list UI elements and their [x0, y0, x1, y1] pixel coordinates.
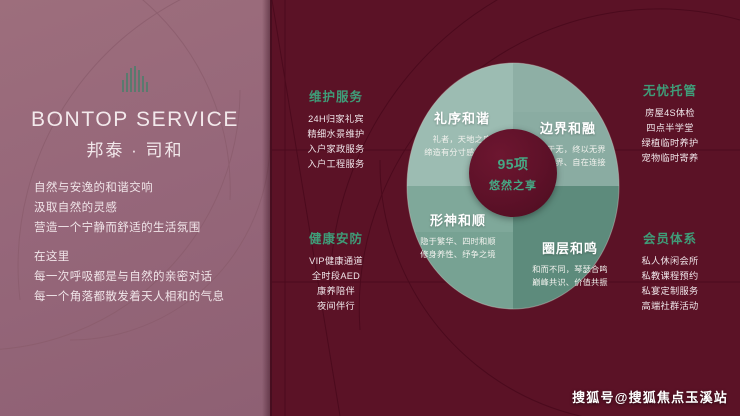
service-pinwheel-diagram: 礼序和谐 礼者，天地之序 缔造有分寸感的礼仪 边界和融 有生于无，终以无界 打破… [406, 62, 620, 310]
copy-line: 每一个角落都散发着天人相和的气息 [34, 287, 248, 307]
panel-edge-shadow [262, 0, 272, 416]
label-group-item: 四点半学堂 [622, 121, 718, 136]
label-group-title: 维护服务 [288, 86, 384, 105]
hub-caption: 悠然之享 [489, 177, 537, 193]
slide-canvas: BONTOP SERVICE 邦泰 · 司和 自然与安逸的和谐交响 汲取自然的灵… [0, 0, 740, 416]
quadrant-bottom-left: 形神和顺 隐于繁华、四时和顺 修身养性、纾争之境 [406, 210, 510, 261]
copy-line: 营造一个宁静而舒适的生活氛围 [34, 218, 248, 238]
left-brand-panel: BONTOP SERVICE 邦泰 · 司和 自然与安逸的和谐交响 汲取自然的灵… [0, 0, 270, 416]
label-group-item: 私人休闲会所 [622, 254, 718, 269]
label-group-item: 康养陪伴 [288, 284, 384, 299]
label-group-custody: 无忧托管 房屋4S体检 四点半学堂 绿植临时养护 宠物临时寄养 [622, 80, 718, 166]
label-group-item: 宠物临时寄养 [622, 151, 718, 166]
brand-bars-icon [122, 66, 148, 92]
source-watermark: 搜狐号@搜狐焦点玉溪站 [572, 387, 728, 406]
label-group-title: 无忧托管 [622, 80, 718, 99]
copy-spacer [34, 238, 248, 247]
quadrant-title: 圈层和鸣 [518, 238, 622, 257]
hub-number: 95项 [497, 154, 528, 174]
label-group-health: 健康安防 VIP健康通道 全时段AED 康养陪伴 夜间伴行 [288, 228, 384, 314]
label-group-item: 绿植临时养护 [622, 136, 718, 151]
label-group-item: 房屋4S体检 [622, 106, 718, 121]
label-group-maintenance: 维护服务 24H归家礼宾 精细水景维护 入户家政服务 入户工程服务 [288, 86, 384, 172]
label-group-member: 会员体系 私人休闲会所 私教课程预约 私宴定制服务 高端社群活动 [622, 228, 718, 314]
label-group-item: 夜间伴行 [288, 299, 384, 314]
label-group-item: 高端社群活动 [622, 299, 718, 314]
label-group-item: 入户家政服务 [288, 142, 384, 157]
brand-title-en: BONTOP SERVICE [0, 108, 270, 132]
quadrant-line: 和而不同，琴瑟合鸣 [518, 263, 622, 276]
label-group-item: VIP健康通道 [288, 254, 384, 269]
label-group-title: 会员体系 [622, 228, 718, 247]
diagram-hub: 95项 悠然之享 [469, 129, 557, 217]
quadrant-line: 修身养性、纾争之境 [406, 248, 510, 261]
quadrant-line: 巅峰共识、价值共振 [518, 276, 622, 289]
label-group-item: 全时段AED [288, 269, 384, 284]
copy-line: 汲取自然的灵感 [34, 198, 248, 218]
quadrant-title: 礼序和谐 [410, 108, 514, 127]
label-group-title: 健康安防 [288, 228, 384, 247]
label-group-item: 入户工程服务 [288, 157, 384, 172]
copy-line: 每一次呼吸都是与自然的亲密对话 [34, 267, 248, 287]
label-group-item: 精细水景维护 [288, 127, 384, 142]
label-group-item: 私教课程预约 [622, 269, 718, 284]
label-group-item: 私宴定制服务 [622, 284, 718, 299]
label-group-item: 24H归家礼宾 [288, 112, 384, 127]
quadrant-line: 隐于繁华、四时和顺 [406, 235, 510, 248]
copy-line: 在这里 [34, 247, 248, 267]
quadrant-bottom-right: 圈层和鸣 和而不同，琴瑟合鸣 巅峰共识、价值共振 [518, 238, 622, 289]
brand-copy-block: 自然与安逸的和谐交响 汲取自然的灵感 营造一个宁静而舒适的生活氛围 在这里 每一… [34, 178, 248, 307]
brand-title-cn: 邦泰 · 司和 [0, 136, 270, 161]
copy-line: 自然与安逸的和谐交响 [34, 178, 248, 198]
